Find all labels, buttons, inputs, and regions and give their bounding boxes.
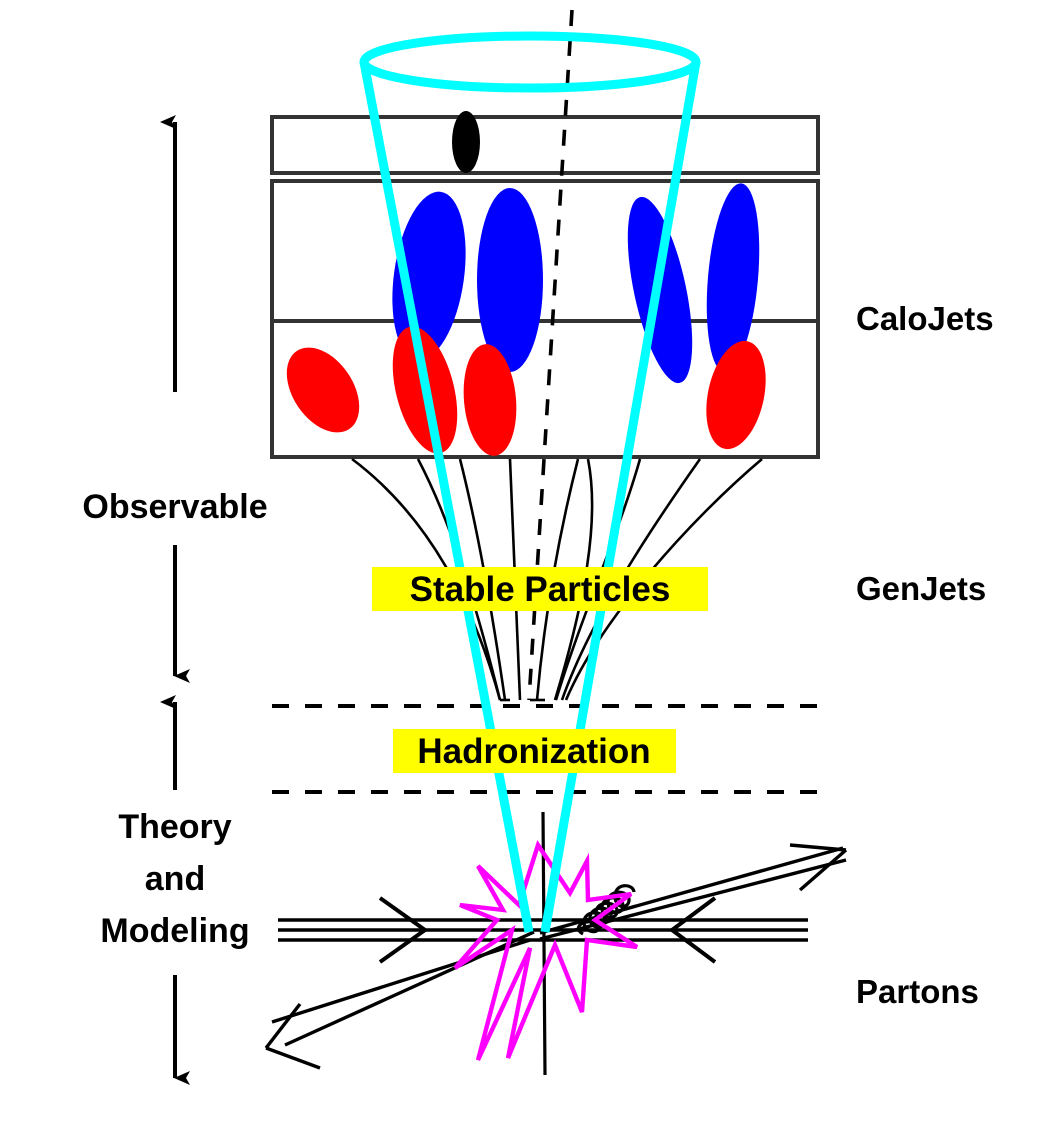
hadronization-label-group: Hadronization [393, 729, 676, 773]
stable-particles-label-group: Stable Particles [372, 567, 708, 611]
theory-label-line1: Theory [118, 808, 231, 846]
jet-levels-diagram: Observable Theory and Modeling [0, 0, 1052, 1125]
partons-label: Partons [856, 973, 979, 1010]
ecal-deposit [272, 334, 374, 445]
muon-chamber-box [272, 117, 818, 173]
theory-label-line2: and [145, 860, 205, 898]
muon-deposit [452, 111, 480, 173]
energy-deposits [272, 111, 775, 460]
jet-cone-top-ellipse [364, 36, 696, 88]
genjets-label: GenJets [856, 570, 986, 607]
jet-cone [364, 36, 696, 932]
calojets-label: CaloJets [856, 300, 994, 337]
ecal-deposit [697, 335, 775, 454]
stable-particles-label: Stable Particles [410, 570, 671, 609]
observable-label: Observable [82, 488, 267, 526]
diagram-canvas: Observable Theory and Modeling [0, 0, 1052, 1125]
hadronization-label: Hadronization [417, 732, 650, 771]
theory-label-line3: Modeling [100, 912, 249, 950]
